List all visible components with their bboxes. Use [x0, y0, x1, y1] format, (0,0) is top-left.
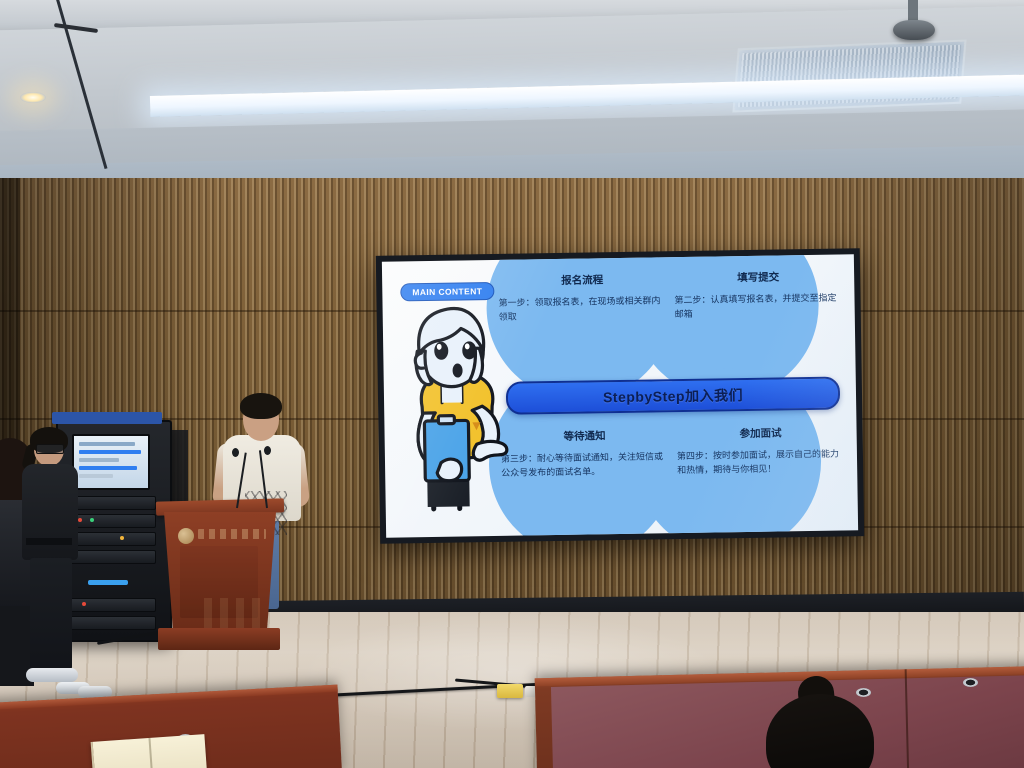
presentation-screen[interactable]: MAIN CONTENT	[376, 248, 864, 544]
projector-head-icon	[893, 20, 935, 40]
center-banner: StepbyStep加入我们	[506, 377, 840, 415]
podium	[162, 500, 278, 678]
quadrant-title: 填写提交	[674, 268, 842, 286]
lecture-hall-scene: MAIN CONTENT	[0, 0, 1024, 768]
podium-base	[158, 628, 280, 650]
center-banner-label: StepbyStep加入我们	[603, 385, 743, 407]
downlight-icon	[20, 92, 46, 103]
cartoon-girl-illustration	[394, 294, 509, 516]
belt	[26, 538, 72, 545]
quadrant-bottom-right: 参加面试 第四步：按时参加面试，展示自己的能力和热情，期待与你相见！	[676, 424, 845, 478]
podium-emblem-icon	[178, 528, 194, 544]
rack-device	[68, 532, 156, 546]
quadrant-top-left: 报名流程 第一步：领取报名表，在现场或相关群内领取	[498, 271, 667, 325]
status-led	[120, 536, 124, 540]
cable-grommet	[963, 678, 978, 687]
microphone-head-icon	[232, 448, 239, 457]
torso	[22, 464, 78, 560]
quadrant-top-right: 填写提交 第二步：认真填写报名表，并提交至指定邮箱	[674, 268, 843, 322]
status-led	[82, 602, 86, 606]
ceiling	[0, 0, 1024, 190]
rack-display-strip	[88, 580, 128, 585]
status-led	[90, 518, 94, 522]
quadrant-body: 第二步：认真填写报名表，并提交至指定邮箱	[674, 291, 842, 322]
quadrant-body: 第三步：耐心等待面试通知，关注短信或公众号发布的面试名单。	[501, 450, 669, 481]
power-adapter-icon	[497, 684, 523, 698]
quadrant-bottom-left: 等待通知 第三步：耐心等待面试通知，关注短信或公众号发布的面试名单。	[501, 427, 670, 481]
microphone-head-icon	[264, 446, 271, 455]
quadrant-body: 第四步：按时参加面试，展示自己的能力和热情，期待与你相见！	[677, 447, 845, 478]
cable-grommet	[856, 688, 871, 697]
rack-device	[68, 496, 156, 510]
rack-device	[68, 598, 156, 612]
rack-cover-cloth	[52, 412, 162, 424]
quadrant-title: 报名流程	[498, 271, 666, 289]
podium-front-panel	[164, 512, 276, 630]
podium-inscription	[198, 529, 266, 539]
rack-monitor[interactable]	[72, 434, 150, 490]
quadrant-title: 等待通知	[501, 427, 669, 445]
hair	[240, 393, 282, 419]
legs	[30, 558, 72, 670]
quadrant-title: 参加面试	[676, 424, 844, 442]
background-legs	[56, 658, 116, 698]
quadrant-body: 第一步：领取报名表，在现场或相关群内领取	[498, 294, 666, 325]
glasses-icon	[36, 444, 64, 454]
slide-canvas: MAIN CONTENT	[382, 254, 858, 537]
rack-device	[68, 550, 156, 564]
rack-device	[68, 616, 156, 630]
status-led	[78, 518, 82, 522]
podium-inset-panel	[180, 546, 258, 618]
